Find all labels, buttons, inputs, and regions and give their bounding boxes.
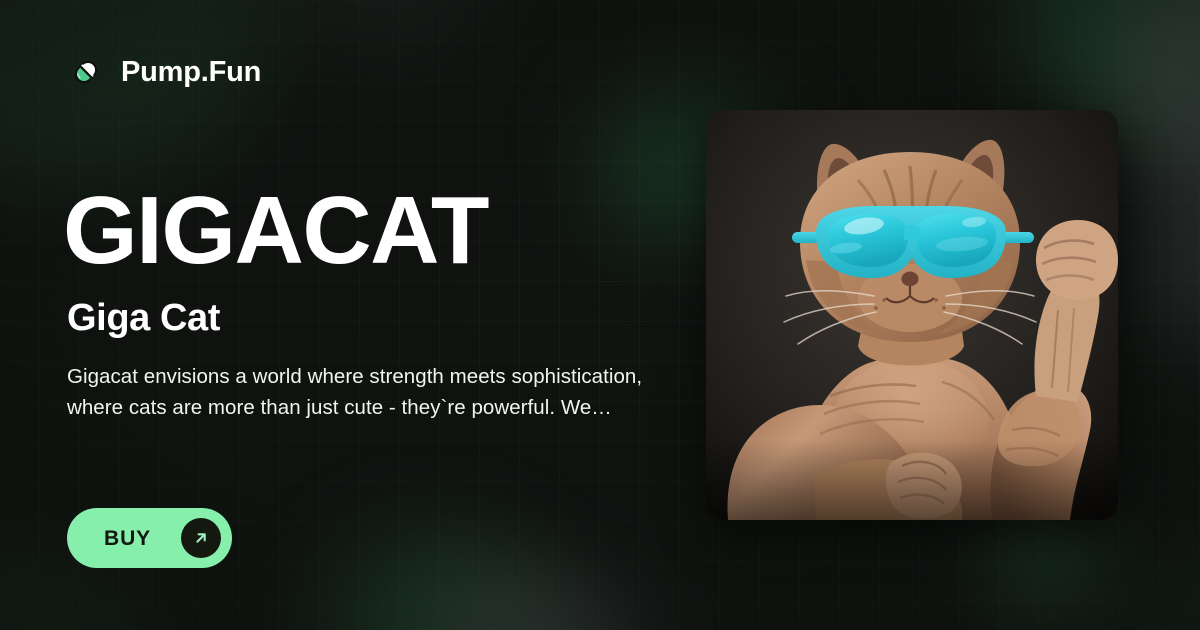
- token-name: Giga Cat: [67, 295, 667, 343]
- muscular-cat-with-cyan-sunglasses-image: [706, 110, 1118, 520]
- pump-fun-token-card: Pump.Fun GIGACAT Giga Cat Gigacat envisi…: [0, 0, 1200, 630]
- token-ticker: GIGACAT: [63, 183, 667, 279]
- pill-capsule-icon: [67, 53, 105, 91]
- buy-button[interactable]: BUY: [67, 508, 232, 568]
- buy-button-label: BUY: [104, 528, 151, 549]
- token-artwork: [706, 110, 1118, 520]
- arrow-up-right-icon: [181, 518, 221, 558]
- token-info-block: GIGACAT Giga Cat Gigacat envisions a wor…: [67, 183, 667, 423]
- brand-lockup[interactable]: Pump.Fun: [67, 53, 261, 91]
- token-description: Gigacat envisions a world where strength…: [67, 361, 647, 423]
- brand-name: Pump.Fun: [121, 58, 261, 87]
- card-content: Pump.Fun GIGACAT Giga Cat Gigacat envisi…: [0, 0, 1200, 630]
